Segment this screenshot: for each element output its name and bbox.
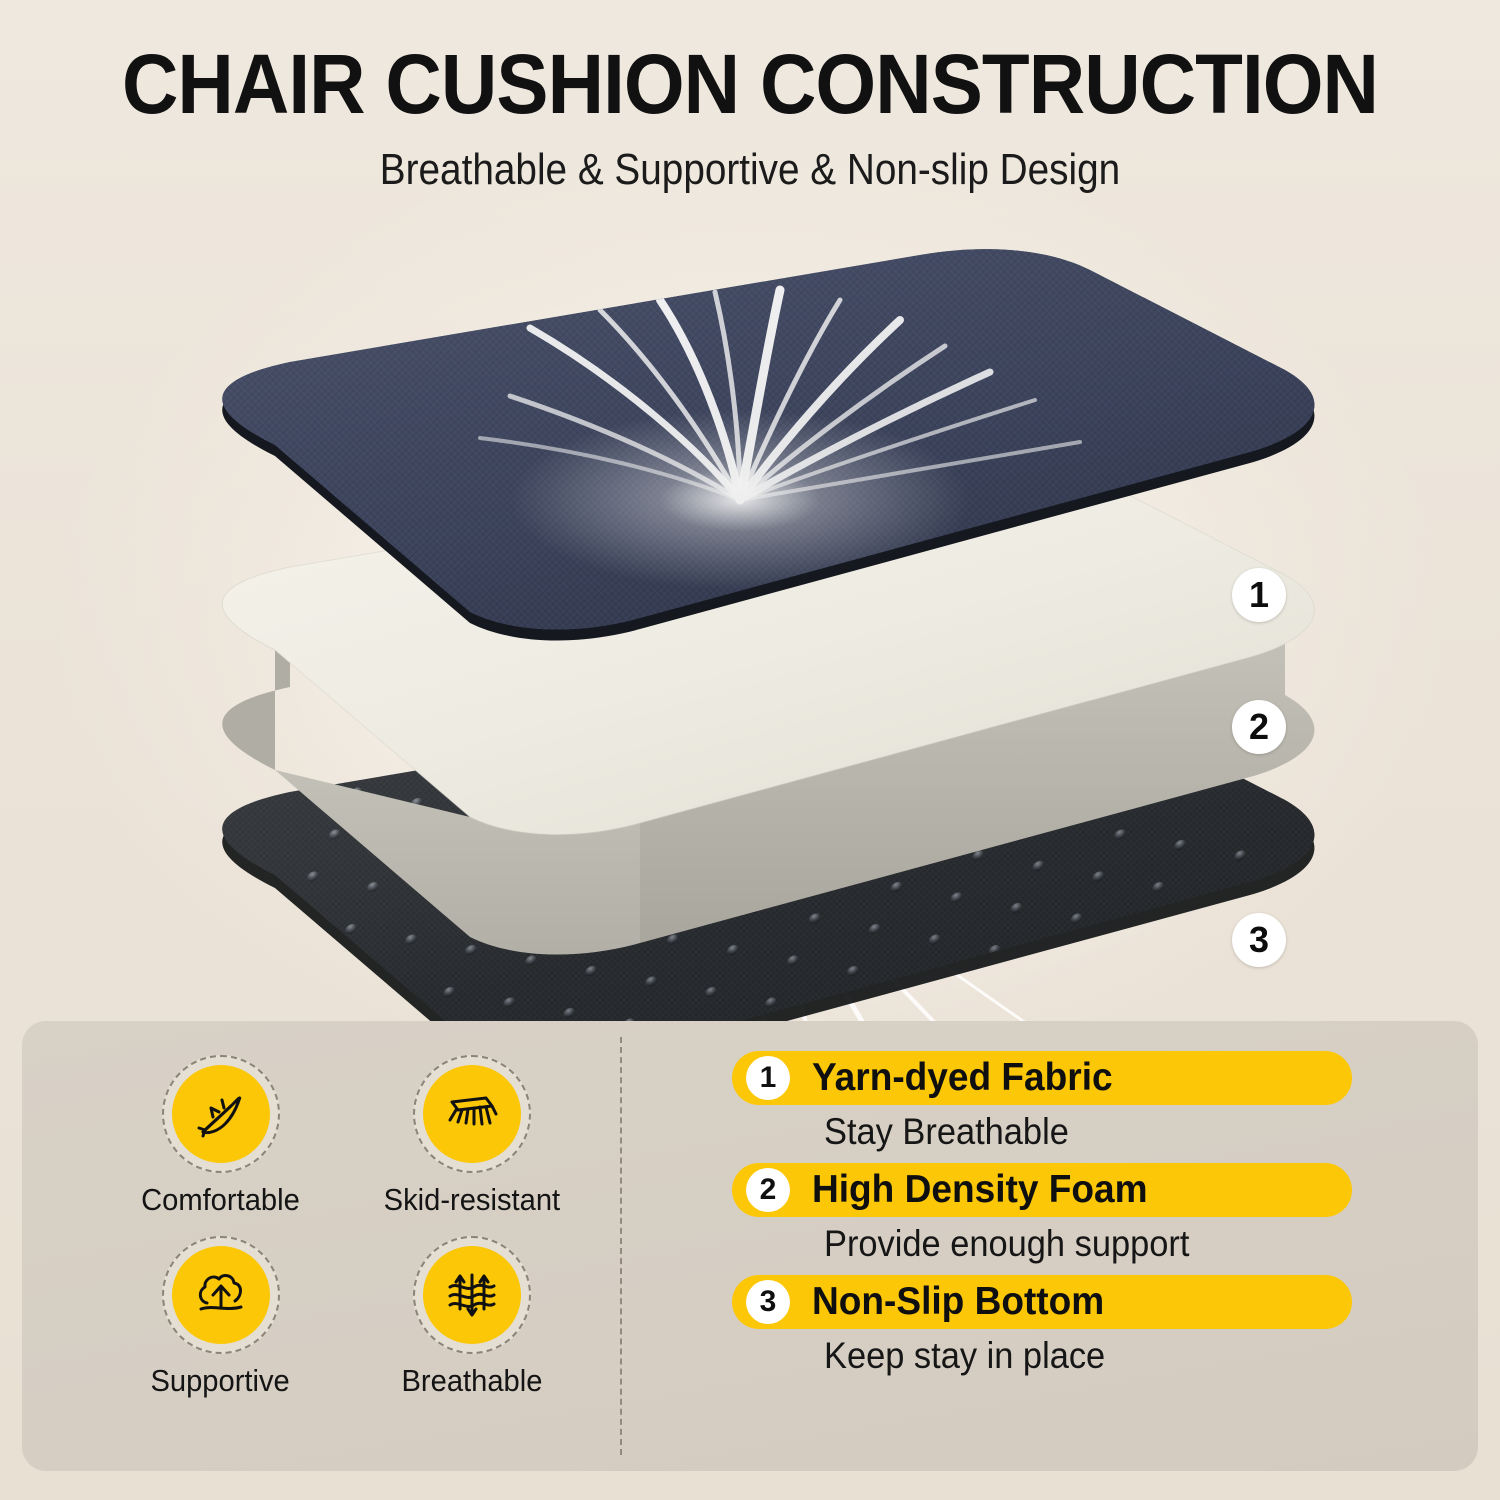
feature-breathable[interactable]: Breathable xyxy=(357,1236,586,1399)
feature-circle xyxy=(423,1065,521,1163)
feature-comfortable[interactable]: Comfortable xyxy=(106,1055,335,1218)
feature-icons-section: Comfortable xyxy=(22,1021,620,1471)
pill-description: Stay Breathable xyxy=(824,1111,1432,1153)
brush-grip-icon xyxy=(442,1084,502,1144)
feature-circle xyxy=(172,1065,270,1163)
numbered-item-1[interactable]: 1 Yarn-dyed Fabric Stay Breathable xyxy=(732,1051,1478,1153)
infographic-page: CHAIR CUSHION CONSTRUCTION Breathable & … xyxy=(0,0,1500,1500)
stack-badge-2: 2 xyxy=(1232,700,1286,754)
feature-icon-grid: Comfortable xyxy=(106,1055,586,1399)
pill-title: Non-Slip Bottom xyxy=(812,1280,1104,1324)
feature-ring xyxy=(162,1236,280,1354)
numbered-pill: 2 High Density Foam xyxy=(732,1163,1352,1217)
feather-icon xyxy=(191,1084,251,1144)
features-panel: Comfortable xyxy=(22,1021,1478,1471)
feature-ring xyxy=(413,1236,531,1354)
numbered-pill: 1 Yarn-dyed Fabric xyxy=(732,1051,1352,1105)
stack-badge-3: 3 xyxy=(1232,913,1286,967)
airflow-waves-icon xyxy=(442,1265,502,1325)
page-title: CHAIR CUSHION CONSTRUCTION xyxy=(53,42,1448,126)
feature-label: Skid-resistant xyxy=(383,1182,560,1218)
feature-circle xyxy=(423,1246,521,1344)
pill-description: Keep stay in place xyxy=(824,1335,1432,1377)
layer-yarn-dyed-fabric xyxy=(180,200,1360,700)
feature-label: Supportive xyxy=(151,1363,290,1399)
pill-title: Yarn-dyed Fabric xyxy=(812,1056,1113,1100)
feature-circle xyxy=(172,1246,270,1344)
feature-label: Breathable xyxy=(401,1363,542,1399)
feature-skid-resistant[interactable]: Skid-resistant xyxy=(357,1055,586,1218)
feature-ring xyxy=(413,1055,531,1173)
pill-title: High Density Foam xyxy=(812,1168,1148,1212)
feature-label: Comfortable xyxy=(141,1182,300,1218)
pill-badge-number: 1 xyxy=(746,1056,790,1100)
cushion-up-arrow-icon xyxy=(191,1265,251,1325)
numbered-pill: 3 Non-Slip Bottom xyxy=(732,1275,1352,1329)
feature-ring xyxy=(162,1055,280,1173)
numbered-item-2[interactable]: 2 High Density Foam Provide enough suppo… xyxy=(732,1163,1478,1265)
page-subtitle: Breathable & Supportive & Non-slip Desig… xyxy=(90,148,1410,192)
pill-badge-number: 2 xyxy=(746,1168,790,1212)
pill-badge-number: 3 xyxy=(746,1280,790,1324)
feature-supportive[interactable]: Supportive xyxy=(106,1236,335,1399)
exploded-cushion-diagram: 1 2 3 xyxy=(0,200,1500,1010)
stack-badge-1: 1 xyxy=(1232,568,1286,622)
header: CHAIR CUSHION CONSTRUCTION Breathable & … xyxy=(0,42,1500,192)
numbered-item-3[interactable]: 3 Non-Slip Bottom Keep stay in place xyxy=(732,1275,1478,1377)
pill-description: Provide enough support xyxy=(824,1223,1432,1265)
numbered-features-section: 1 Yarn-dyed Fabric Stay Breathable 2 Hig… xyxy=(620,1021,1478,1471)
